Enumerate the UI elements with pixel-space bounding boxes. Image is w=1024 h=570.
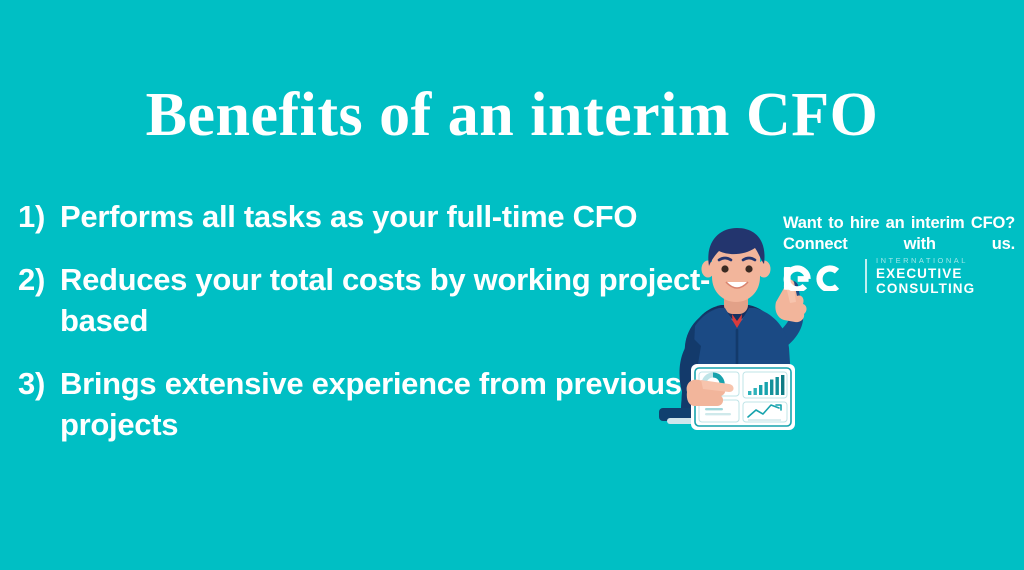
logo-wordmark: INTERNATIONAL EXECUTIVE CONSULTING [876, 257, 975, 296]
iec-logo[interactable]: INTERNATIONAL EXECUTIVE CONSULTING [783, 255, 975, 297]
bar-chart-widget [743, 372, 787, 398]
head-shape [702, 228, 771, 302]
slide-canvas: Benefits of an interim CFO 1) Performs a… [0, 0, 1024, 570]
logo-line-consulting: CONSULTING [876, 282, 975, 296]
list-item-number: 2) [18, 259, 60, 300]
list-item-number: 1) [18, 196, 60, 237]
line-chart-widget [743, 402, 787, 422]
logo-divider [865, 259, 867, 293]
page-title: Benefits of an interim CFO [0, 80, 1024, 150]
list-item-number: 3) [18, 363, 60, 404]
logo-line-international: INTERNATIONAL [876, 257, 975, 265]
logo-line-executive: EXECUTIVE [876, 267, 975, 281]
iec-logomark-icon [783, 262, 855, 291]
